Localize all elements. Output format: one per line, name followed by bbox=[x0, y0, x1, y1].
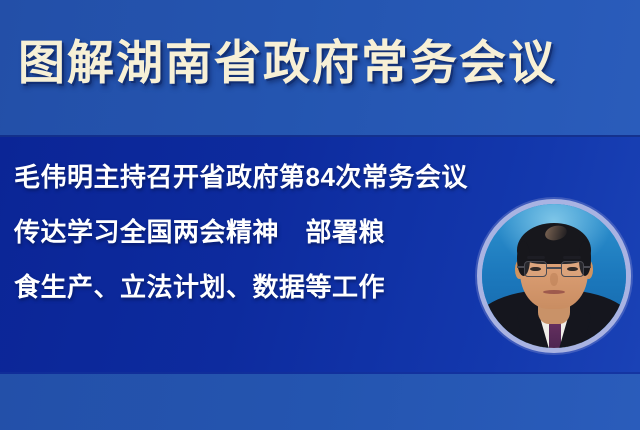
portrait-glasses-temple-right bbox=[583, 266, 592, 268]
portrait-glasses-lens-right bbox=[561, 261, 583, 278]
page-title: 图解湖南省政府常务会议 bbox=[18, 36, 557, 92]
portrait-brow-left bbox=[527, 256, 546, 259]
headline-line-2: 传达学习全国两会精神 部署粮 bbox=[14, 205, 466, 260]
portrait-photo-icon bbox=[482, 204, 626, 348]
title-container: 图解湖南省政府常务会议 bbox=[0, 0, 640, 137]
portrait-mouth bbox=[543, 290, 565, 294]
portrait-glasses-bridge bbox=[547, 267, 561, 269]
portrait-brow-right bbox=[563, 256, 582, 259]
portrait-glasses-temple-left bbox=[517, 266, 526, 268]
footer-band bbox=[0, 374, 640, 430]
avatar bbox=[477, 199, 631, 353]
headline-line-3: 食生产、立法计划、数据等工作 bbox=[14, 260, 466, 315]
headline-line-1: 毛伟明主持召开省政府第84次常务会议 bbox=[14, 150, 466, 205]
headline-block: 毛伟明主持召开省政府第84次常务会议 传达学习全国两会精神 部署粮 食生产、立法… bbox=[14, 150, 466, 315]
infographic-poster: 图解湖南省政府常务会议 毛伟明主持召开省政府第84次常务会议 传达学习全国两会精… bbox=[0, 0, 640, 430]
portrait-glasses-lens-left bbox=[524, 261, 546, 278]
